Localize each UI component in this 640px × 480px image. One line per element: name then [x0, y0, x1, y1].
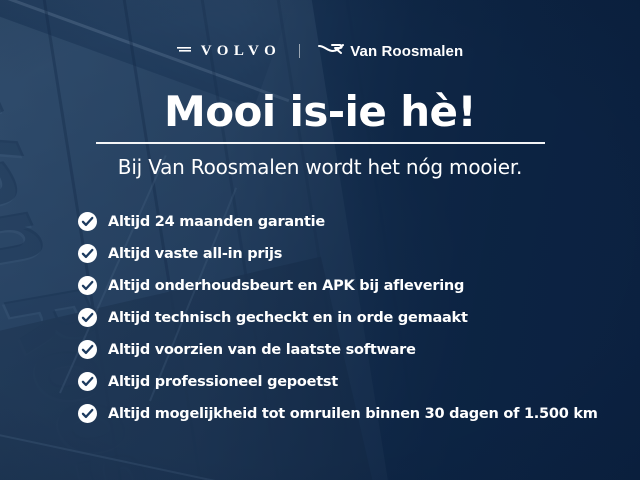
page-subtitle: Bij Van Roosmalen wordt het nóg mooier.	[0, 155, 640, 179]
van-roosmalen-wordmark: Van Roosmalen	[350, 43, 463, 60]
check-circle-icon	[78, 404, 97, 423]
list-item: Altijd technisch gecheckt en in orde gem…	[78, 308, 598, 327]
benefits-list: Altijd 24 maanden garantie Altijd vaste …	[78, 212, 598, 423]
list-item: Altijd vaste all-in prijs	[78, 244, 598, 263]
title-divider	[96, 142, 545, 144]
logo-bar: VOLVO Van Roosmalen	[0, 38, 640, 64]
list-item: Altijd onderhoudsbeurt en APK bij afleve…	[78, 276, 598, 295]
logo-separator	[299, 44, 300, 58]
van-roosmalen-logo: Van Roosmalen	[318, 42, 463, 61]
list-item: Altijd professioneel gepoetst	[78, 372, 598, 391]
page-title: Mooi is-ie hè!	[0, 88, 640, 136]
volvo-logo: VOLVO	[177, 42, 282, 60]
list-item-label: Altijd mogelijkheid tot omruilen binnen …	[108, 406, 598, 422]
list-item-label: Altijd onderhoudsbeurt en APK bij afleve…	[108, 278, 464, 294]
check-circle-icon	[78, 244, 97, 263]
volvo-iron-mark-icon	[177, 42, 193, 60]
check-circle-icon	[78, 276, 97, 295]
list-item: Altijd 24 maanden garantie	[78, 212, 598, 231]
check-circle-icon	[78, 340, 97, 359]
list-item-label: Altijd vaste all-in prijs	[108, 246, 282, 262]
volvo-wordmark: VOLVO	[199, 43, 282, 60]
check-circle-icon	[78, 372, 97, 391]
list-item: Altijd mogelijkheid tot omruilen binnen …	[78, 404, 598, 423]
promo-banner: Van Roosmalen VOLVO	[0, 0, 640, 480]
check-circle-icon	[78, 308, 97, 327]
list-item-label: Altijd voorzien van de laatste software	[108, 342, 416, 358]
list-item-label: Altijd technisch gecheckt en in orde gem…	[108, 310, 468, 326]
list-item-label: Altijd 24 maanden garantie	[108, 214, 325, 230]
check-circle-icon	[78, 212, 97, 231]
list-item-label: Altijd professioneel gepoetst	[108, 374, 338, 390]
van-roosmalen-swoosh-icon	[318, 42, 344, 61]
list-item: Altijd voorzien van de laatste software	[78, 340, 598, 359]
